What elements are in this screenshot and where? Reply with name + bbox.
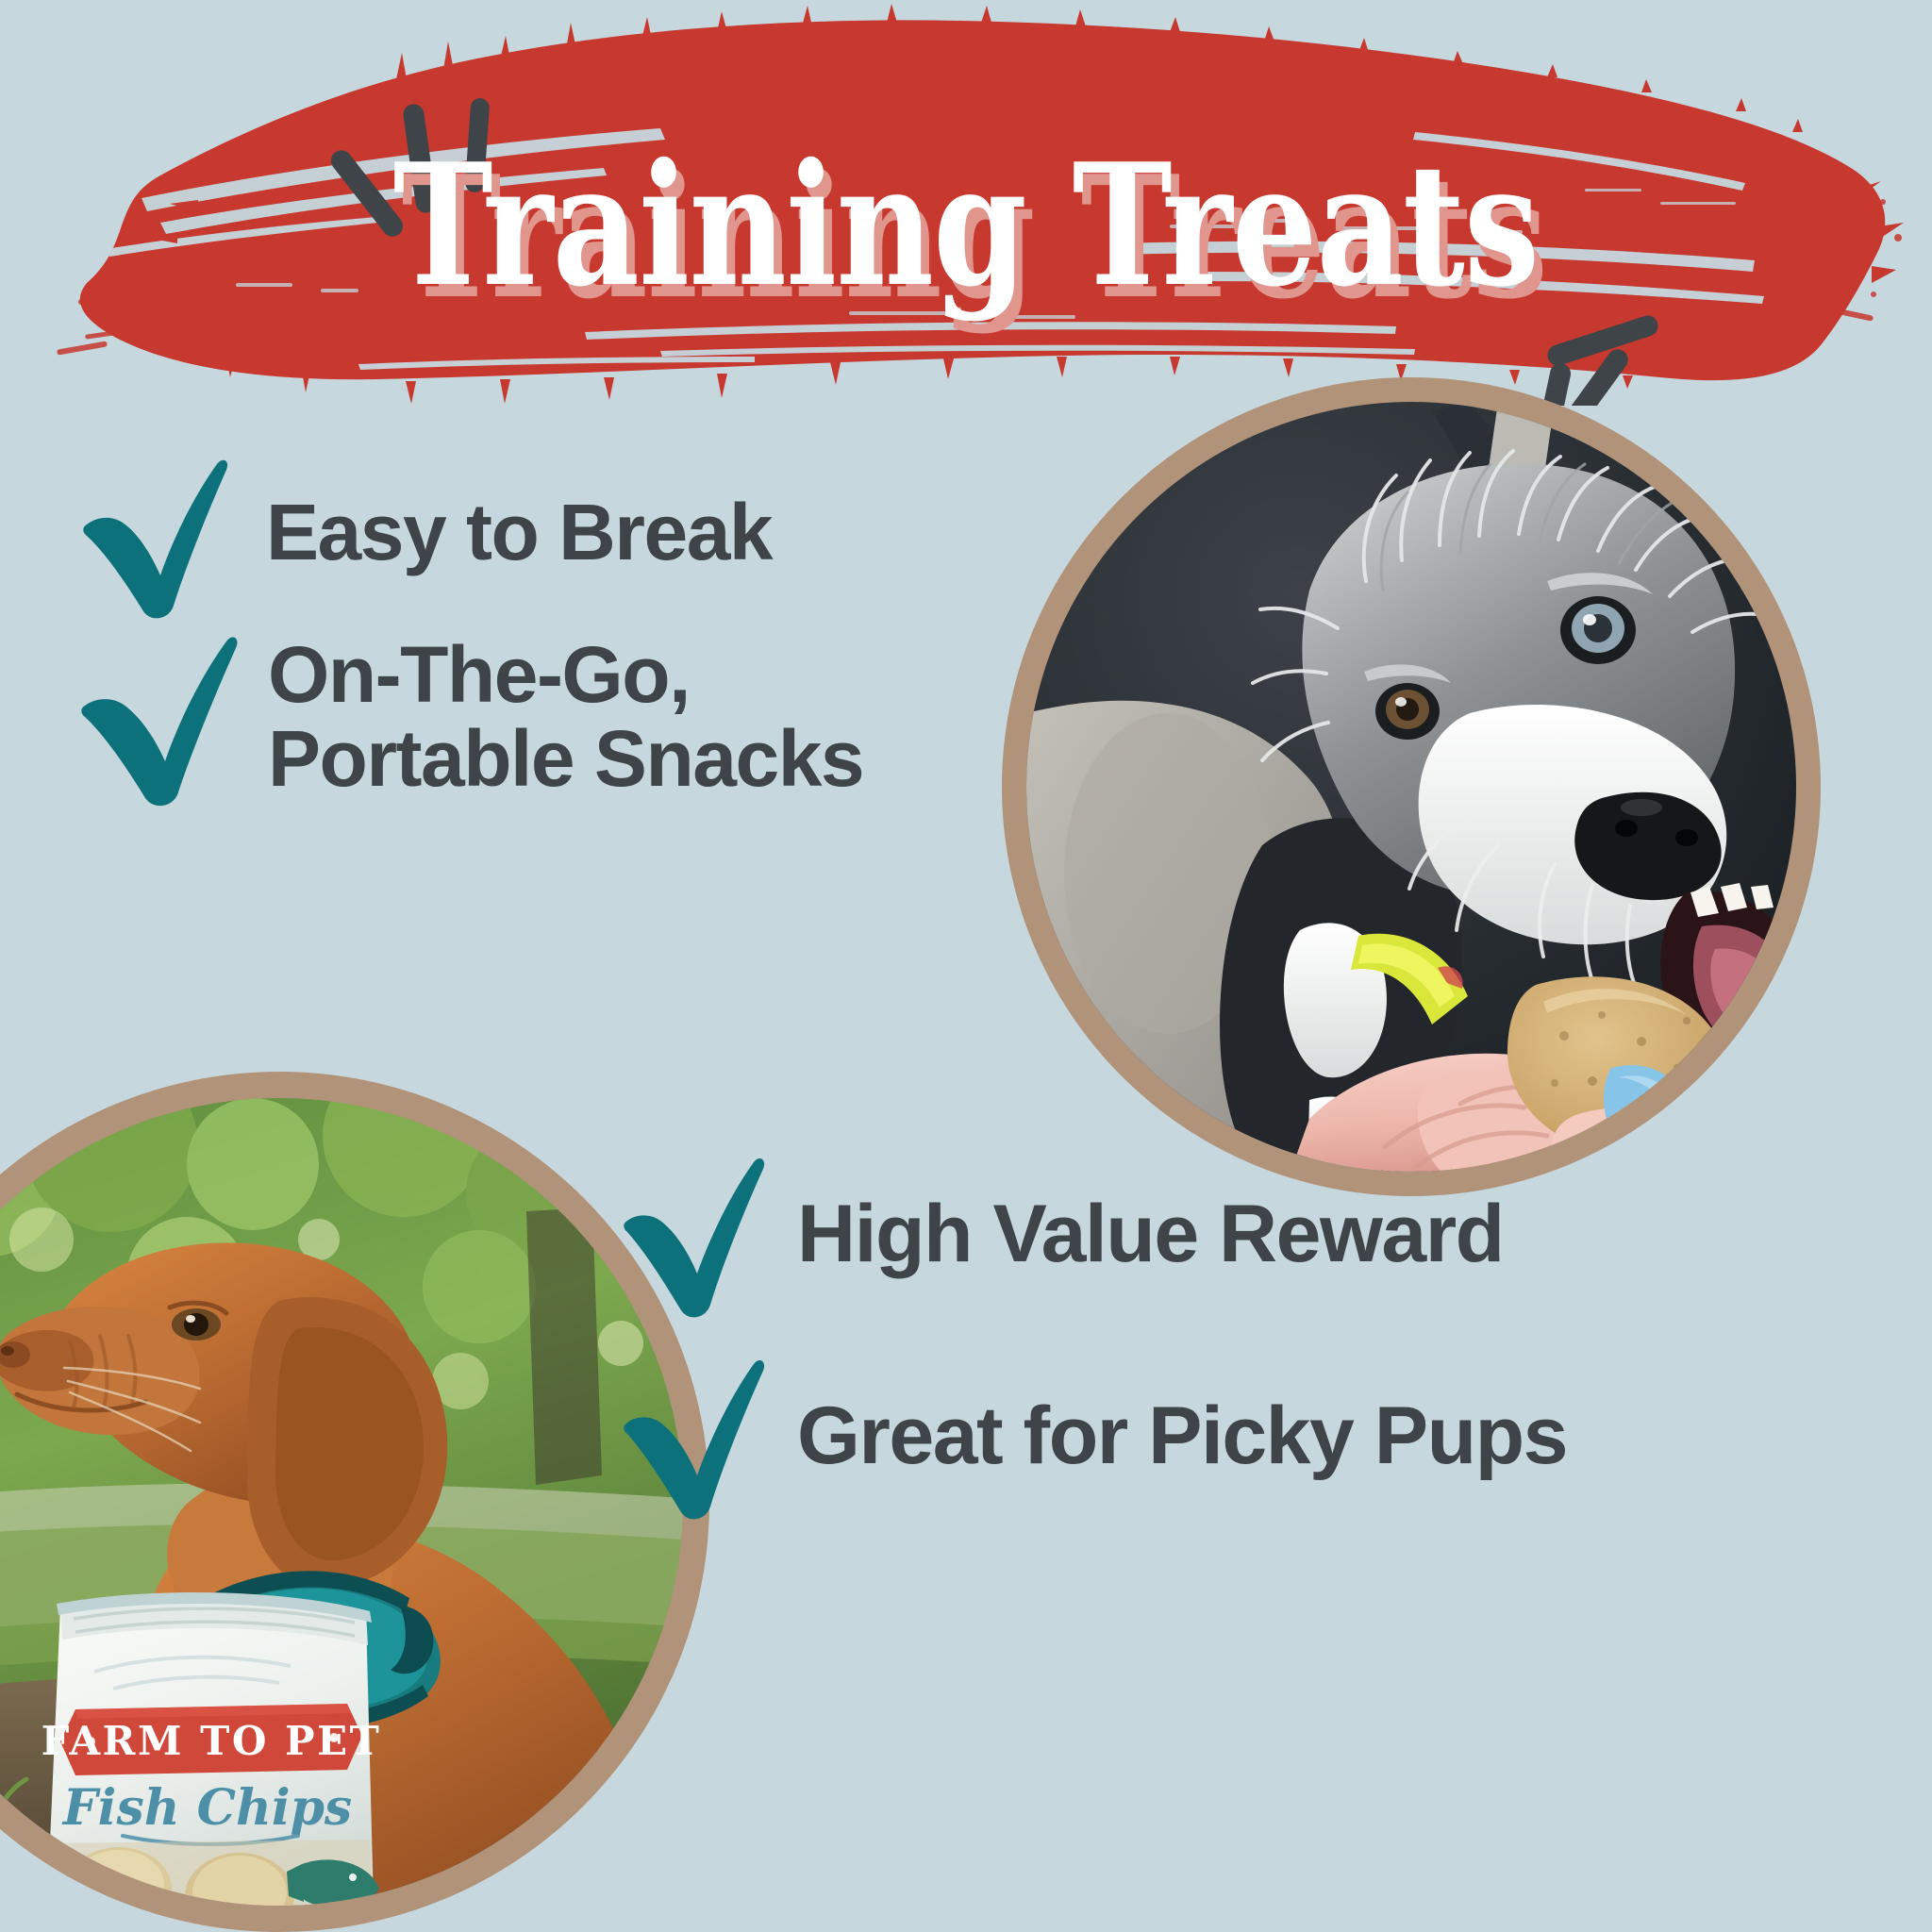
package-brand-text: FARM TO PET — [42, 1718, 382, 1764]
illustration-vizsla-outdoors: FARM TO PET Fish Chips — [0, 1098, 683, 1906]
photo-dog-eating-treat — [1002, 377, 1821, 1196]
illustration-dog-in-car — [1026, 402, 1796, 1172]
benefit-label: On-The-Go, Portable Snacks — [268, 633, 863, 801]
benefit-item-on-the-go: On-The-Go, Portable Snacks — [74, 623, 863, 811]
photo-inner-dog-eating-treat — [1026, 402, 1796, 1172]
benefit-label: High Value Reward — [797, 1191, 1504, 1277]
header-banner: Training Treats — [0, 0, 1932, 406]
benefit-item-easy-to-break: Easy to Break — [74, 443, 772, 623]
check-icon — [74, 443, 234, 623]
check-icon — [74, 623, 243, 811]
package-flavor-text: Fish Chips — [61, 1779, 352, 1837]
check-icon — [618, 1147, 769, 1322]
benefit-label: Great for Picky Pups — [797, 1393, 1567, 1479]
poster-canvas: Training Treats — [0, 0, 1932, 1932]
benefit-item-high-value-reward: High Value Reward — [618, 1147, 1504, 1322]
benefit-label: Easy to Break — [266, 491, 772, 575]
benefit-item-great-for-picky-pups: Great for Picky Pups — [618, 1349, 1567, 1524]
product-package-illustration: FARM TO PET Fish Chips — [42, 1592, 382, 1906]
page-title: Training Treats — [193, 142, 1739, 309]
photo-inner-vizsla: FARM TO PET Fish Chips — [0, 1098, 683, 1906]
photo-vizsla-with-package: FARM TO PET Fish Chips — [0, 1072, 709, 1932]
check-icon — [618, 1349, 769, 1524]
